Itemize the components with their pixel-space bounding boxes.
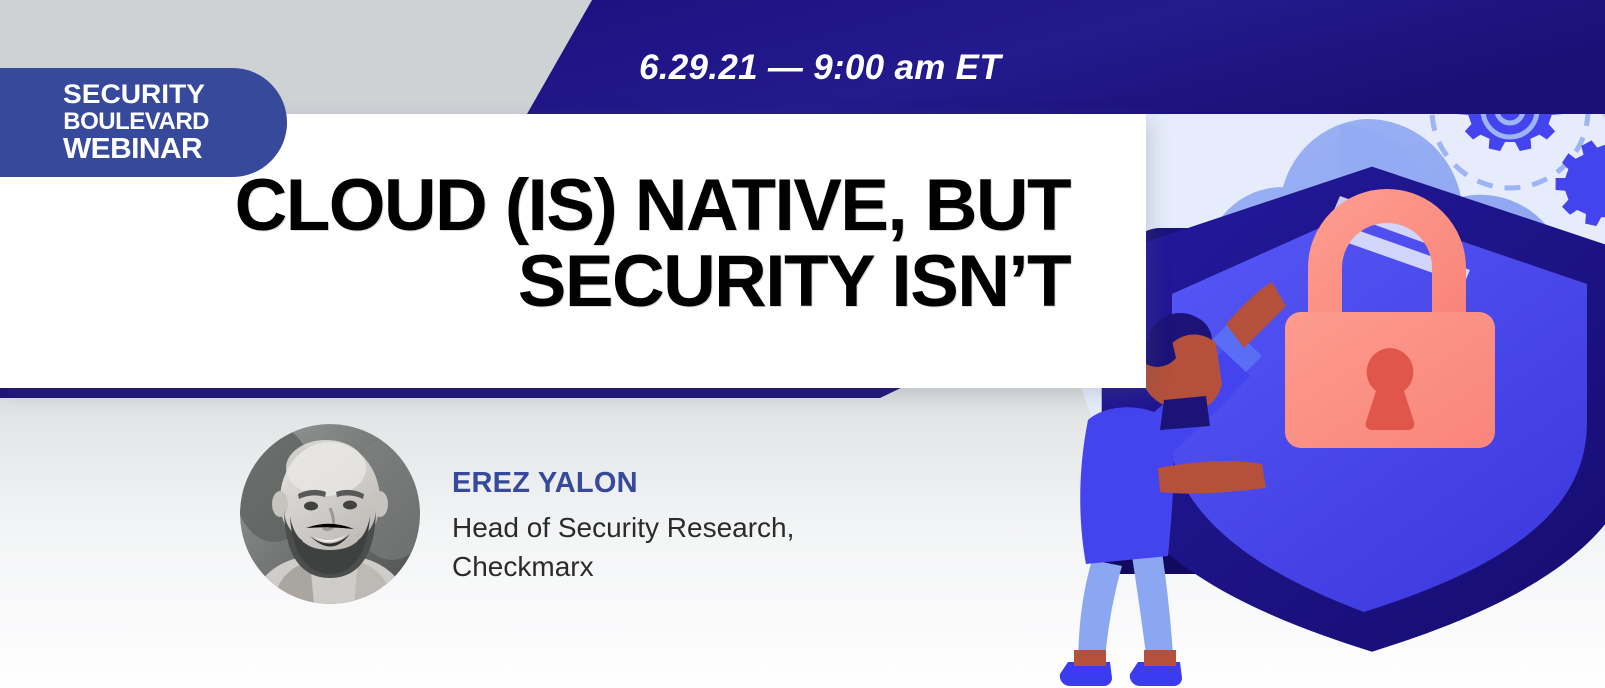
- logo-line-boulevard: BOULEVARD: [63, 110, 209, 134]
- webinar-datetime: 6.29.21 — 9:00 am ET: [560, 48, 1080, 88]
- speaker-role: Head of Security Research, Checkmarx: [452, 508, 794, 586]
- security-boulevard-webinar-badge: SECURITY BOULEVARD WEBINAR: [0, 68, 287, 177]
- speaker-headshot-image: [240, 424, 420, 604]
- speaker-role-line-1: Head of Security Research,: [452, 512, 794, 543]
- page-title: CLOUD (IS) NATIVE, BUT SECURITY ISN’T: [120, 168, 1070, 320]
- avatar: [240, 424, 420, 604]
- logo-text-stack: SECURITY BOULEVARD WEBINAR: [63, 81, 209, 164]
- logo-line-webinar: WEBINAR: [63, 135, 202, 164]
- speaker-info: EREZ YALON Head of Security Research, Ch…: [452, 424, 794, 586]
- speaker-role-line-2: Checkmarx: [452, 551, 594, 582]
- speaker-name: EREZ YALON: [452, 468, 794, 500]
- logo-line-security: SECURITY: [63, 81, 205, 108]
- speaker-block: EREZ YALON Head of Security Research, Ch…: [240, 424, 794, 604]
- webinar-banner: 6.29.21 — 9:00 am ET SECURITY BOULEVARD …: [0, 0, 1605, 688]
- headline-line-2: SECURITY ISN’T: [120, 244, 1070, 320]
- headline-line-1: CLOUD (IS) NATIVE, BUT: [120, 168, 1070, 244]
